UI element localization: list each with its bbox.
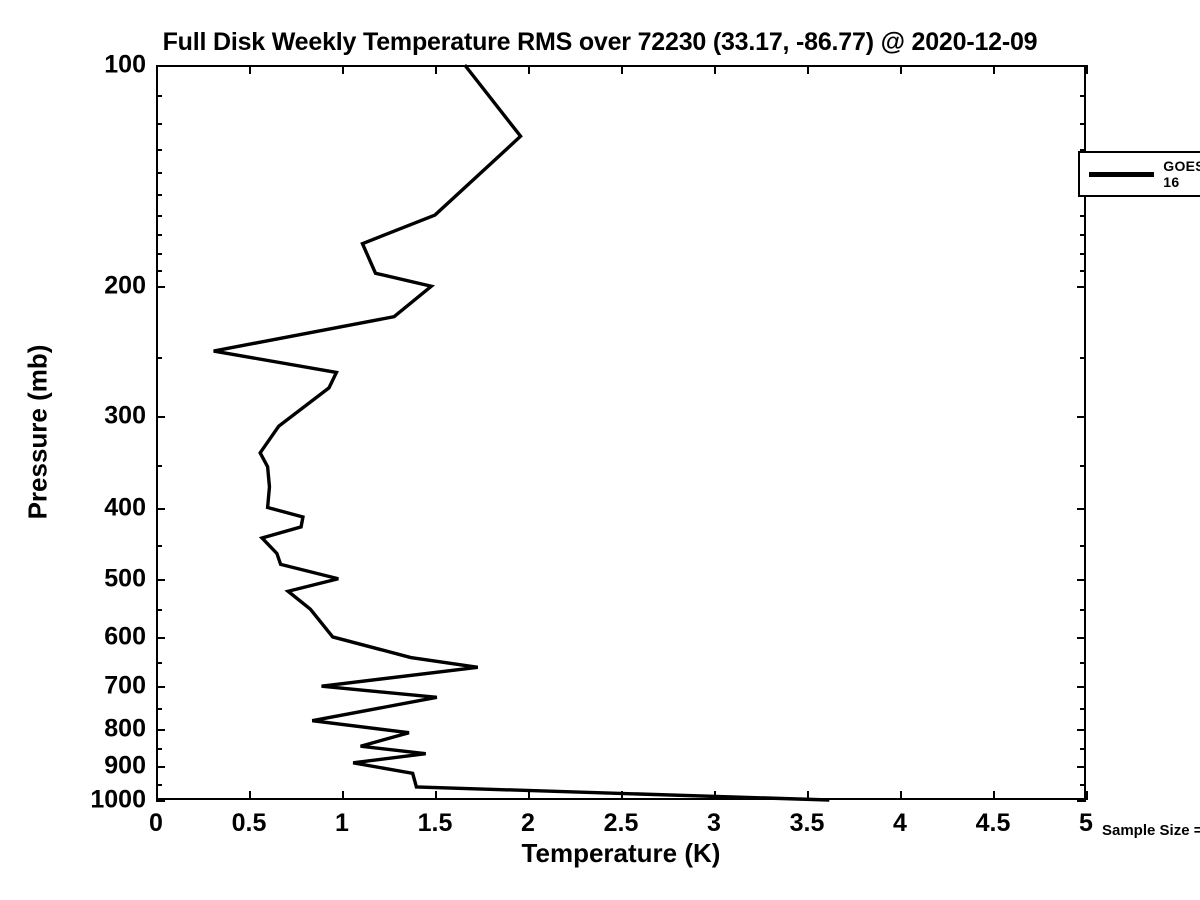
x-tick-top — [249, 65, 251, 74]
y-tick-minor — [156, 465, 162, 467]
x-tick-label: 3.5 — [790, 809, 825, 838]
y-tick-right — [1077, 416, 1086, 418]
x-tick-label: 5 — [1079, 809, 1093, 838]
y-tick — [156, 729, 165, 731]
y-tick-minor-right — [1080, 545, 1086, 547]
y-tick-minor-right — [1080, 708, 1086, 710]
x-tick-label: 2 — [521, 809, 535, 838]
y-tick-minor-right — [1080, 215, 1086, 217]
y-tick — [156, 686, 165, 688]
y-tick-label: 100 — [104, 51, 146, 80]
y-tick-minor — [156, 708, 162, 710]
x-tick-top — [435, 65, 437, 74]
y-tick-label: 500 — [104, 564, 146, 593]
y-tick-label: 200 — [104, 272, 146, 301]
y-tick-minor — [156, 609, 162, 611]
y-tick-minor-right — [1080, 465, 1086, 467]
y-tick-minor — [156, 215, 162, 217]
y-tick-minor — [156, 123, 162, 125]
y-tick-minor-right — [1080, 253, 1086, 255]
x-tick-label: 4 — [893, 809, 907, 838]
y-tick — [156, 766, 165, 768]
x-tick — [435, 791, 437, 800]
y-tick-label: 800 — [104, 714, 146, 743]
y-tick — [156, 579, 165, 581]
y-tick-minor — [156, 194, 162, 196]
y-tick-minor — [156, 95, 162, 97]
x-tick-top — [714, 65, 716, 74]
y-tick-right — [1077, 286, 1086, 288]
legend-line-swatch — [1089, 172, 1154, 177]
legend-item-label: GOES-16 — [1163, 158, 1200, 190]
x-tick-label: 0.5 — [232, 809, 267, 838]
x-tick-label: 0 — [149, 809, 163, 838]
y-tick-minor-right — [1080, 357, 1086, 359]
y-tick-right — [1077, 729, 1086, 731]
legend[interactable]: GOES-16 — [1078, 151, 1200, 197]
x-tick — [1086, 791, 1088, 800]
y-tick-right — [1077, 686, 1086, 688]
x-tick-top — [900, 65, 902, 74]
y-tick-right — [1077, 766, 1086, 768]
y-tick-minor — [156, 748, 162, 750]
page-title: Full Disk Weekly Temperature RMS over 72… — [0, 28, 1200, 57]
y-tick-right — [1077, 579, 1086, 581]
y-tick-minor-right — [1080, 270, 1086, 272]
y-tick — [156, 508, 165, 510]
data-line-chart — [156, 65, 1086, 800]
series-line-goes-16 — [214, 65, 830, 800]
y-tick — [156, 65, 165, 67]
y-tick-label: 900 — [104, 752, 146, 781]
y-tick — [156, 800, 165, 802]
x-tick — [900, 791, 902, 800]
figure-canvas: Full Disk Weekly Temperature RMS over 72… — [0, 0, 1200, 900]
x-tick-top — [342, 65, 344, 74]
y-tick-label: 1000 — [90, 786, 146, 815]
y-tick-minor-right — [1080, 123, 1086, 125]
x-tick-top — [807, 65, 809, 74]
x-tick — [249, 791, 251, 800]
y-tick-minor-right — [1080, 95, 1086, 97]
sample-size-annotation: Sample Size = 8 — [1102, 822, 1200, 839]
x-tick — [528, 791, 530, 800]
y-tick-minor — [156, 149, 162, 151]
y-tick-minor — [156, 784, 162, 786]
y-tick-right — [1077, 637, 1086, 639]
y-tick-minor-right — [1080, 234, 1086, 236]
x-tick — [342, 791, 344, 800]
y-tick-minor-right — [1080, 662, 1086, 664]
x-tick-top — [993, 65, 995, 74]
x-tick — [993, 791, 995, 800]
y-tick-minor-right — [1080, 784, 1086, 786]
x-tick-label: 2.5 — [604, 809, 639, 838]
y-tick — [156, 637, 165, 639]
y-tick-minor — [156, 234, 162, 236]
x-tick-label: 1 — [335, 809, 349, 838]
y-tick-label: 300 — [104, 401, 146, 430]
y-tick — [156, 416, 165, 418]
y-tick-minor — [156, 270, 162, 272]
x-tick — [621, 791, 623, 800]
y-tick-right — [1077, 800, 1086, 802]
y-tick-minor — [156, 545, 162, 547]
y-tick-minor — [156, 253, 162, 255]
x-tick — [714, 791, 716, 800]
y-tick-label: 700 — [104, 672, 146, 701]
x-tick-top — [1086, 65, 1088, 74]
y-tick-minor — [156, 357, 162, 359]
y-tick-minor-right — [1080, 748, 1086, 750]
x-tick-label: 4.5 — [976, 809, 1011, 838]
x-tick — [807, 791, 809, 800]
y-axis-label: Pressure (mb) — [23, 345, 54, 520]
x-axis-label: Temperature (K) — [156, 838, 1086, 869]
x-tick-label: 3 — [707, 809, 721, 838]
plot-axes: 00.511.522.533.544.55 100200300400500600… — [156, 65, 1086, 800]
y-tick-right — [1077, 65, 1086, 67]
x-tick — [156, 791, 158, 800]
x-tick-top — [528, 65, 530, 74]
y-tick-label: 400 — [104, 493, 146, 522]
x-tick-label: 1.5 — [418, 809, 453, 838]
y-tick-minor — [156, 662, 162, 664]
x-tick-top — [621, 65, 623, 74]
y-tick-right — [1077, 508, 1086, 510]
y-tick — [156, 286, 165, 288]
y-tick-minor — [156, 172, 162, 174]
y-tick-minor-right — [1080, 609, 1086, 611]
y-tick-label: 600 — [104, 622, 146, 651]
